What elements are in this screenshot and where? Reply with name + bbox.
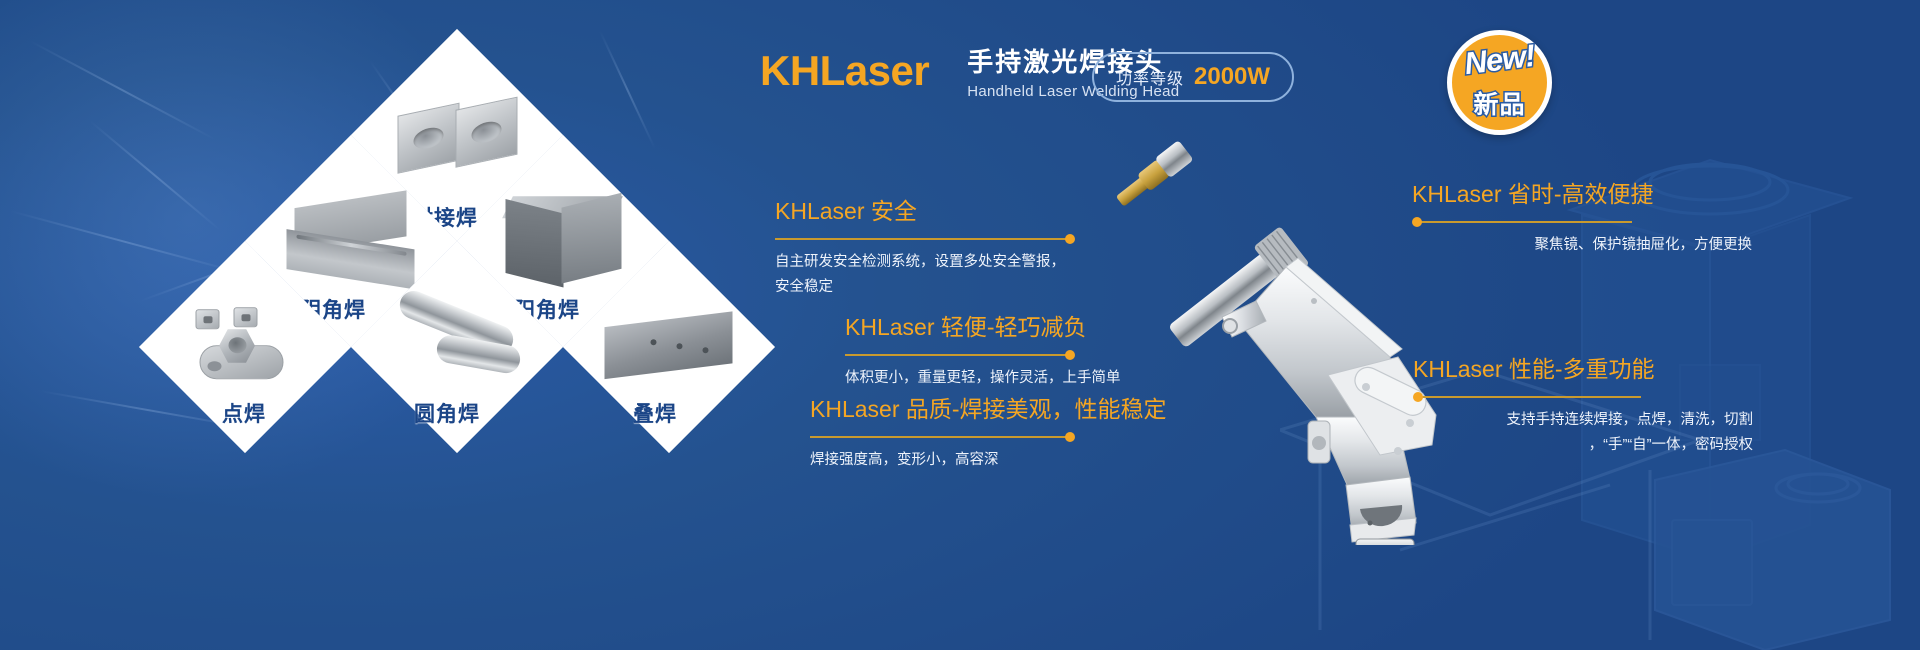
new-badge-text-cn: 新品 <box>1447 85 1552 121</box>
feature-quality-desc-line-1: 焊接强度高，变形小，高容深 <box>810 448 1075 473</box>
feature-performance: KHLaser 性能-多重功能 支持手持连续焊接，点焊，清洗，切割 ，“手”“自… <box>1413 350 1763 459</box>
weld-sample-grid: 对接焊 阴角焊 阳角焊 <box>150 20 770 490</box>
feature-lightweight-desc-line-1: 体积更小，重量更轻，操作灵活，上手简单 <box>845 366 1075 391</box>
feature-performance-desc-line-2: ，“手”“自”一体，密码授权 <box>1413 433 1753 458</box>
weld-sample-label-spot: 点焊 <box>222 398 266 428</box>
weld-sample-label-lap: 叠焊 <box>633 398 677 428</box>
feature-safety: KHLaser 安全 自主研发安全检测系统，设置多处安全警报， 安全稳定 <box>775 192 1075 301</box>
lower-collet <box>1346 477 1416 542</box>
feature-safety-desc-line-1: 自主研发安全检测系统，设置多处安全警报， <box>775 250 1075 275</box>
product-banner: 对接焊 阴角焊 阳角焊 <box>0 0 1920 650</box>
feature-time-saving-title: KHLaser 省时-高效便捷 <box>1412 175 1772 209</box>
feature-safety-title: KHLaser 安全 <box>775 192 1075 226</box>
feature-performance-rule <box>1413 392 1763 402</box>
power-rating-label: 功率等级 <box>1116 65 1184 89</box>
power-rating-value: 2000W <box>1194 63 1270 91</box>
nozzle-tip <box>1112 140 1194 211</box>
power-rating-badge: 功率等级 2000W <box>1092 52 1294 102</box>
feature-safety-rule <box>775 234 1075 244</box>
feature-time-saving-rule <box>1412 217 1772 227</box>
new-product-badge: New! 新品 <box>1447 30 1552 135</box>
feature-lightweight-rule <box>845 350 1075 360</box>
brand-logo-text: KHLaser <box>760 47 929 95</box>
feature-performance-desc-line-1: 支持手持连续焊接，点焊，清洗，切割 <box>1413 408 1753 433</box>
feature-safety-desc-line-2: 安全稳定 <box>775 275 1075 300</box>
feature-time-saving: KHLaser 省时-高效便捷 聚焦镜、保护镜抽屉化，方便更换 <box>1412 175 1772 258</box>
weld-sample-label-fillet: 圆角焊 <box>414 398 480 428</box>
feature-lightweight: KHLaser 轻便-轻巧减负 体积更小，重量更轻，操作灵活，上手简单 <box>845 308 1075 391</box>
collet-nut <box>1356 539 1414 545</box>
feature-performance-title: KHLaser 性能-多重功能 <box>1413 350 1763 384</box>
feature-quality-title: KHLaser 品质-焊接美观，性能稳定 <box>810 390 1075 424</box>
feature-time-saving-desc-line-1: 聚焦镜、保护镜抽屉化，方便更换 <box>1412 233 1752 258</box>
feature-quality: KHLaser 品质-焊接美观，性能稳定 焊接强度高，变形小，高容深 <box>810 390 1075 473</box>
feature-lightweight-title: KHLaser 轻便-轻巧减负 <box>845 308 1075 342</box>
feature-quality-rule <box>810 432 1075 442</box>
